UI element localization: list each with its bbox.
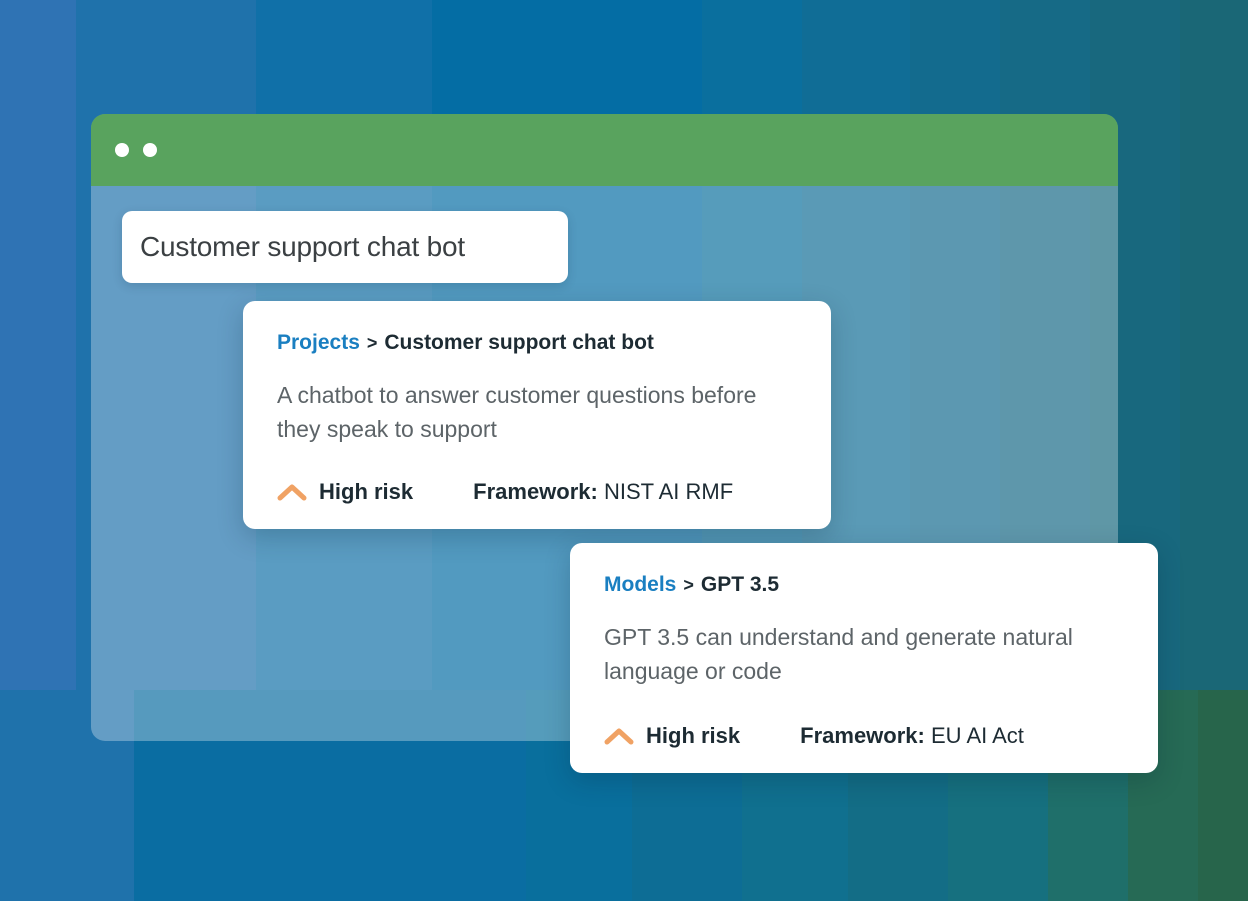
card-description: GPT 3.5 can understand and generate natu…: [604, 620, 1114, 688]
breadcrumb-root-link[interactable]: Projects: [277, 331, 360, 355]
background-band: [0, 0, 76, 690]
framework-value: EU AI Act: [931, 723, 1024, 748]
search-result-card-project[interactable]: Projects > Customer support chat bot A c…: [243, 301, 831, 529]
framework-label: Framework:: [473, 479, 598, 504]
search-input[interactable]: Customer support chat bot: [122, 211, 568, 283]
window-dot-right[interactable]: [143, 143, 157, 157]
window-dot-left[interactable]: [115, 143, 129, 157]
breadcrumb: Projects > Customer support chat bot: [277, 331, 797, 355]
framework-info: Framework: NIST AI RMF: [473, 479, 733, 505]
chevron-up-icon: [604, 727, 634, 745]
breadcrumb-root-link[interactable]: Models: [604, 573, 676, 597]
window-titlebar: [91, 114, 1118, 186]
breadcrumb: Models > GPT 3.5: [604, 573, 1124, 597]
background-band: [1198, 690, 1248, 901]
risk-label: High risk: [646, 723, 740, 749]
card-meta-row: High risk Framework: EU AI Act: [604, 723, 1024, 749]
risk-badge: High risk: [277, 479, 413, 505]
risk-badge: High risk: [604, 723, 740, 749]
risk-label: High risk: [319, 479, 413, 505]
framework-value: NIST AI RMF: [604, 479, 733, 504]
breadcrumb-separator: >: [683, 575, 694, 596]
breadcrumb-leaf: GPT 3.5: [701, 573, 779, 597]
card-meta-row: High risk Framework: NIST AI RMF: [277, 479, 733, 505]
breadcrumb-separator: >: [367, 333, 378, 354]
breadcrumb-leaf: Customer support chat bot: [384, 331, 654, 355]
framework-label: Framework:: [800, 723, 925, 748]
search-result-card-model[interactable]: Models > GPT 3.5 GPT 3.5 can understand …: [570, 543, 1158, 773]
screenshot-stage: Customer support chat bot Projects > Cus…: [0, 0, 1248, 901]
background-band: [1180, 0, 1248, 690]
chevron-up-icon: [277, 483, 307, 501]
card-description: A chatbot to answer customer questions b…: [277, 378, 787, 446]
framework-info: Framework: EU AI Act: [800, 723, 1024, 749]
search-input-value: Customer support chat bot: [140, 231, 465, 263]
